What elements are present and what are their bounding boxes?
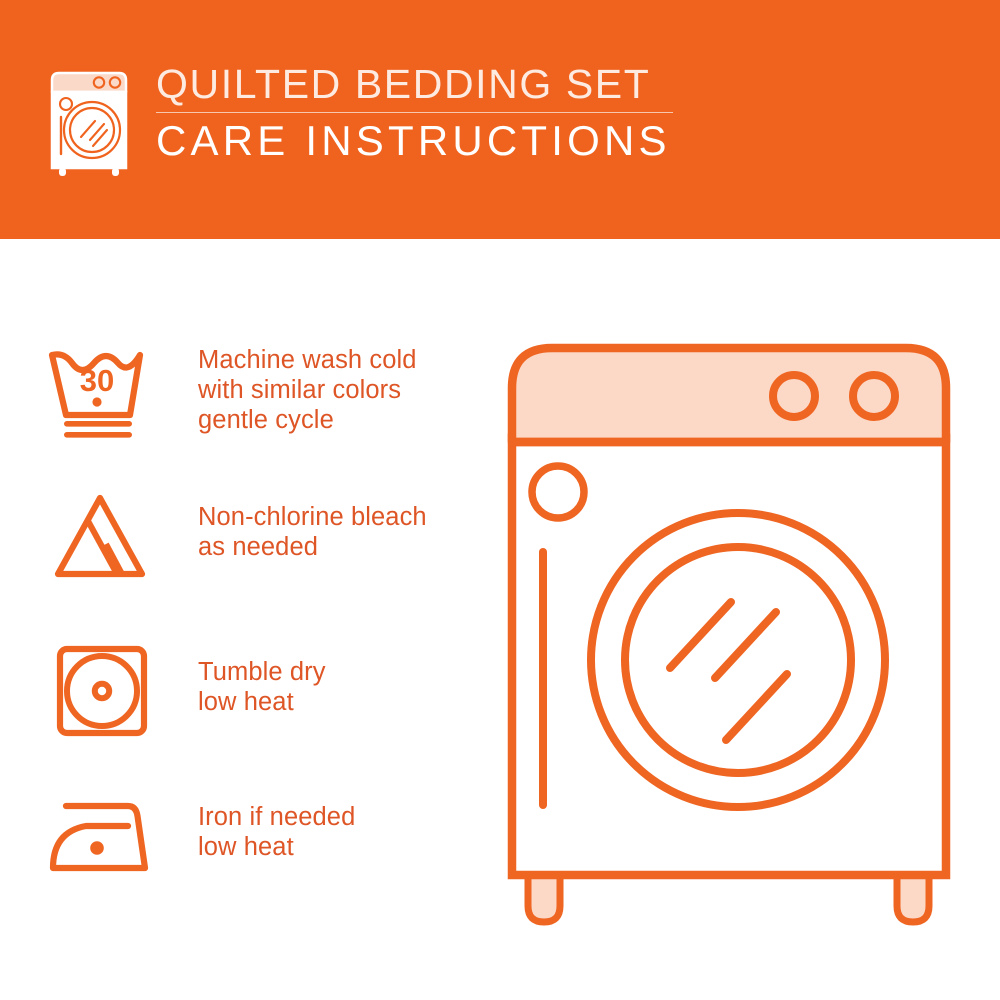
header-content: QUILTED BEDDING SET CARE INSTRUCTIONS	[44, 62, 671, 178]
care-item-bleach-label: Non-chlorine bleach as needed	[198, 484, 427, 562]
care-item-dry: Tumble dry low heat	[44, 639, 484, 747]
triangle-non-chlorine-bleach-icon	[44, 484, 156, 592]
page-title: QUILTED BEDDING SET	[154, 62, 671, 106]
care-item-dry-label: Tumble dry low heat	[198, 639, 326, 717]
iron-low-heat-icon	[44, 784, 156, 892]
header-title-block: QUILTED BEDDING SET CARE INSTRUCTIONS	[154, 62, 671, 164]
care-item-iron-label: Iron if needed low heat	[198, 784, 355, 862]
washing-machine-icon	[44, 68, 142, 178]
washing-machine-illustration	[495, 330, 990, 950]
care-item-wash: 30 Machine wash cold with similar colors…	[44, 339, 484, 447]
care-item-iron: Iron if needed low heat	[44, 784, 484, 892]
care-instruction-list: 30 Machine wash cold with similar colors…	[0, 239, 500, 1000]
care-item-wash-label: Machine wash cold with similar colors ge…	[198, 339, 417, 435]
header-banner: QUILTED BEDDING SET CARE INSTRUCTIONS	[0, 0, 1000, 239]
page-subtitle: CARE INSTRUCTIONS	[154, 118, 671, 164]
care-item-bleach: Non-chlorine bleach as needed	[44, 484, 484, 592]
wash-tub-30-gentle-icon: 30	[44, 339, 156, 447]
wash-temperature-label: 30	[80, 363, 114, 398]
title-divider	[156, 112, 673, 113]
tumble-dry-low-heat-icon	[44, 639, 156, 747]
care-instructions-page: QUILTED BEDDING SET CARE INSTRUCTIONS 30…	[0, 0, 1000, 1000]
